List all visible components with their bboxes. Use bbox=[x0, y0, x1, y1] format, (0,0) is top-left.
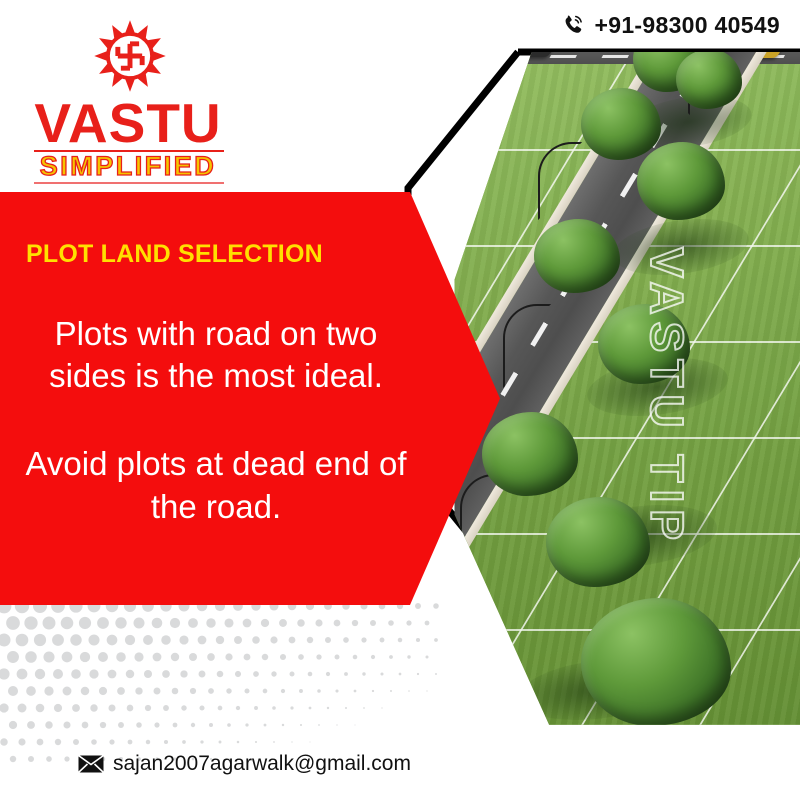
poster-canvas: VASTU TIP PLOT LAND SELECTION Plots with… bbox=[0, 0, 800, 800]
phone-number: +91-98300 40549 bbox=[595, 12, 780, 39]
street-lamp bbox=[503, 304, 551, 388]
envelope-icon bbox=[78, 755, 104, 773]
tree bbox=[581, 598, 731, 726]
phone-icon bbox=[561, 13, 586, 38]
contact-email[interactable]: sajan2007agarwalk@gmail.com bbox=[78, 752, 411, 776]
brand-logo[interactable]: VASTU SIMPLIFIED bbox=[18, 18, 238, 178]
callout-panel: PLOT LAND SELECTION Plots with road on t… bbox=[0, 192, 500, 605]
tree bbox=[482, 412, 578, 496]
tree bbox=[534, 219, 620, 293]
tree bbox=[676, 52, 742, 109]
callout-kicker: PLOT LAND SELECTION bbox=[22, 240, 410, 269]
logo-divider-bottom bbox=[34, 182, 224, 184]
tree bbox=[637, 142, 725, 220]
callout-tip-2: Avoid plots at dead end of the road. bbox=[22, 443, 410, 527]
contact-phone[interactable]: +91-98300 40549 bbox=[561, 12, 780, 39]
tree bbox=[546, 497, 650, 587]
logo-wordmark-primary: VASTU bbox=[18, 96, 238, 151]
halftone-dot-pattern bbox=[0, 600, 440, 765]
logo-wordmark-secondary: SIMPLIFIED bbox=[18, 150, 238, 184]
email-address: sajan2007agarwalk@gmail.com bbox=[113, 752, 411, 776]
photo-watermark: VASTU TIP bbox=[640, 247, 694, 547]
callout-tip-1: Plots with road on two sides is the most… bbox=[22, 313, 410, 397]
tree bbox=[581, 88, 661, 160]
sun-swastika-icon bbox=[92, 18, 168, 94]
